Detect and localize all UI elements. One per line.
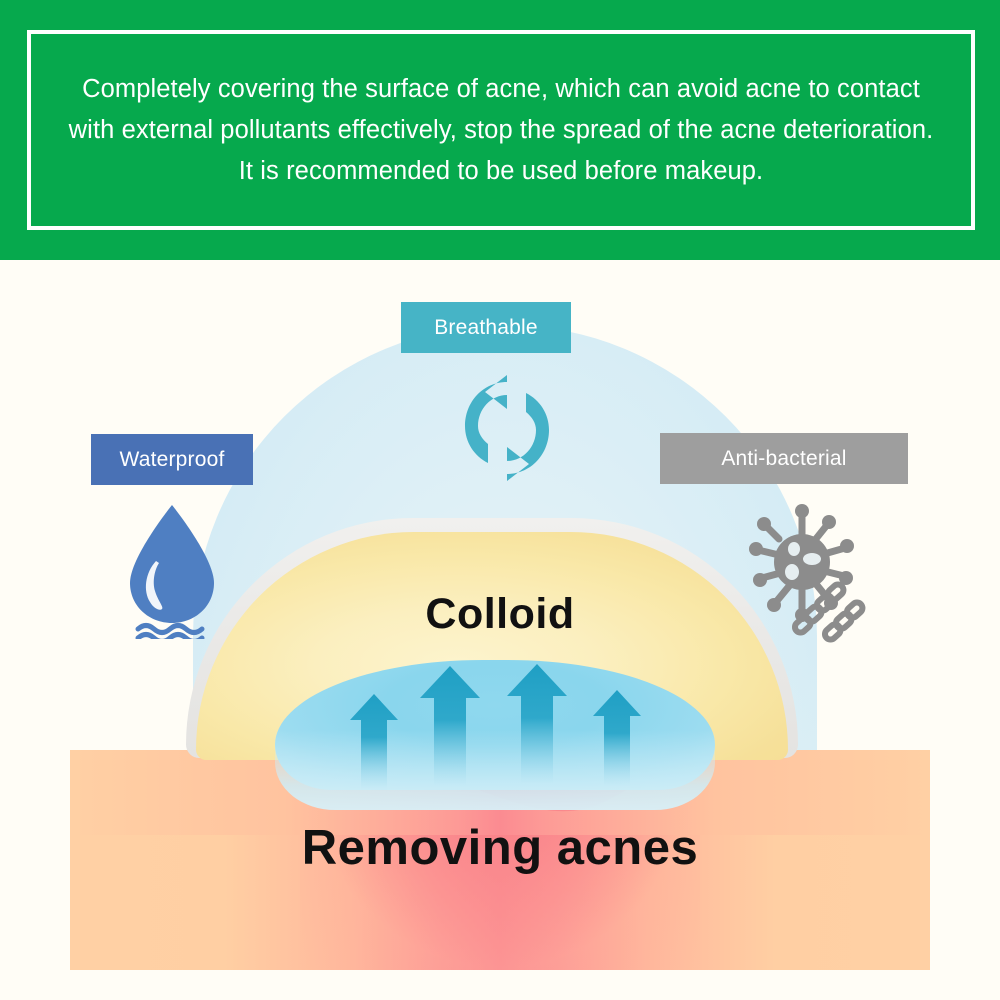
banner: Completely covering the surface of acne,… xyxy=(0,0,1000,260)
infographic-page: Completely covering the surface of acne,… xyxy=(0,0,1000,1000)
diagram-stage: Colloid Removing acnes xyxy=(0,260,1000,1000)
water-drop-icon xyxy=(112,499,232,639)
germ-bacteria-icon xyxy=(732,492,872,652)
banner-text: Completely covering the surface of acne,… xyxy=(61,69,941,192)
caption-removing-acnes: Removing acnes xyxy=(0,820,1000,876)
label-breathable[interactable]: Breathable xyxy=(401,302,571,353)
label-waterproof[interactable]: Waterproof xyxy=(91,434,253,485)
recycle-arrows-icon xyxy=(447,368,567,488)
banner-frame: Completely covering the surface of acne,… xyxy=(27,30,975,230)
upward-arrows-icon xyxy=(340,660,660,810)
label-anti-bacterial[interactable]: Anti-bacterial xyxy=(660,433,908,484)
